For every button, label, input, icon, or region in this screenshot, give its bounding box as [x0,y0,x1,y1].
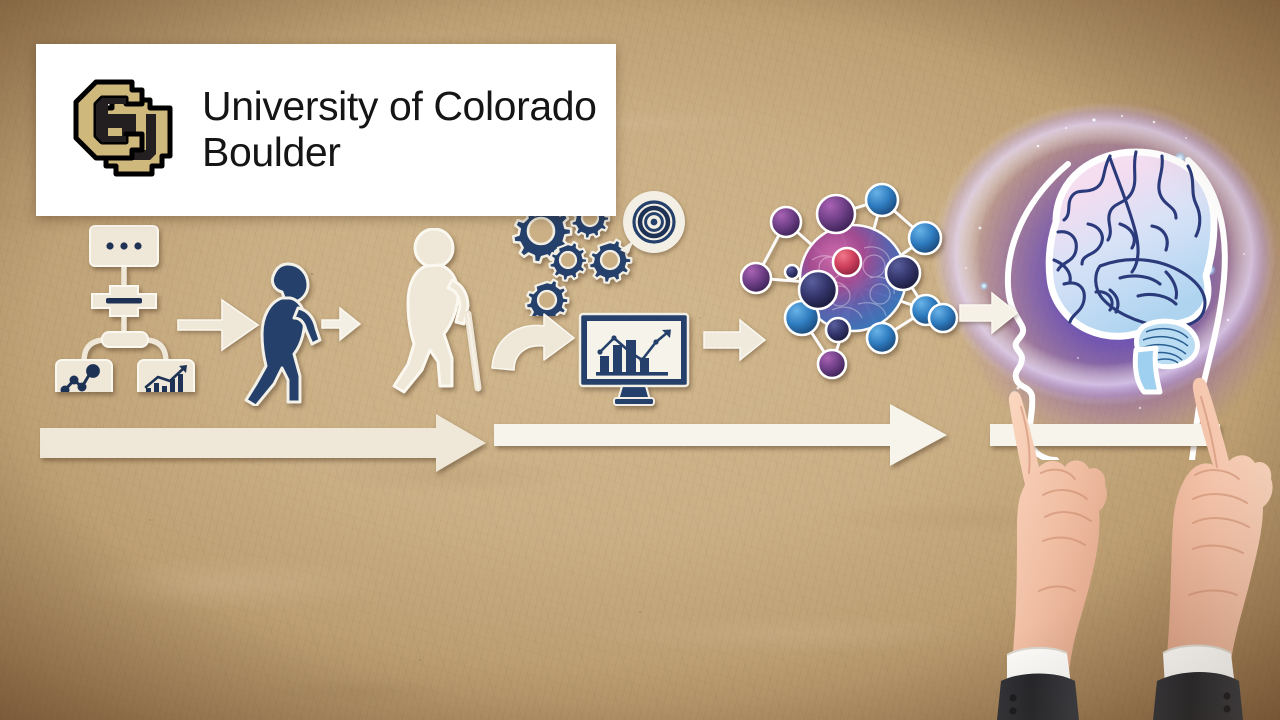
cu-boulder-logo: University of Colorado Boulder [36,44,616,216]
slide-canvas: University of Colorado Boulder [0,0,1280,720]
cu-boulder-wordmark: University of Colorado Boulder [202,84,597,176]
cu-interlocking-monogram-icon [58,74,180,186]
